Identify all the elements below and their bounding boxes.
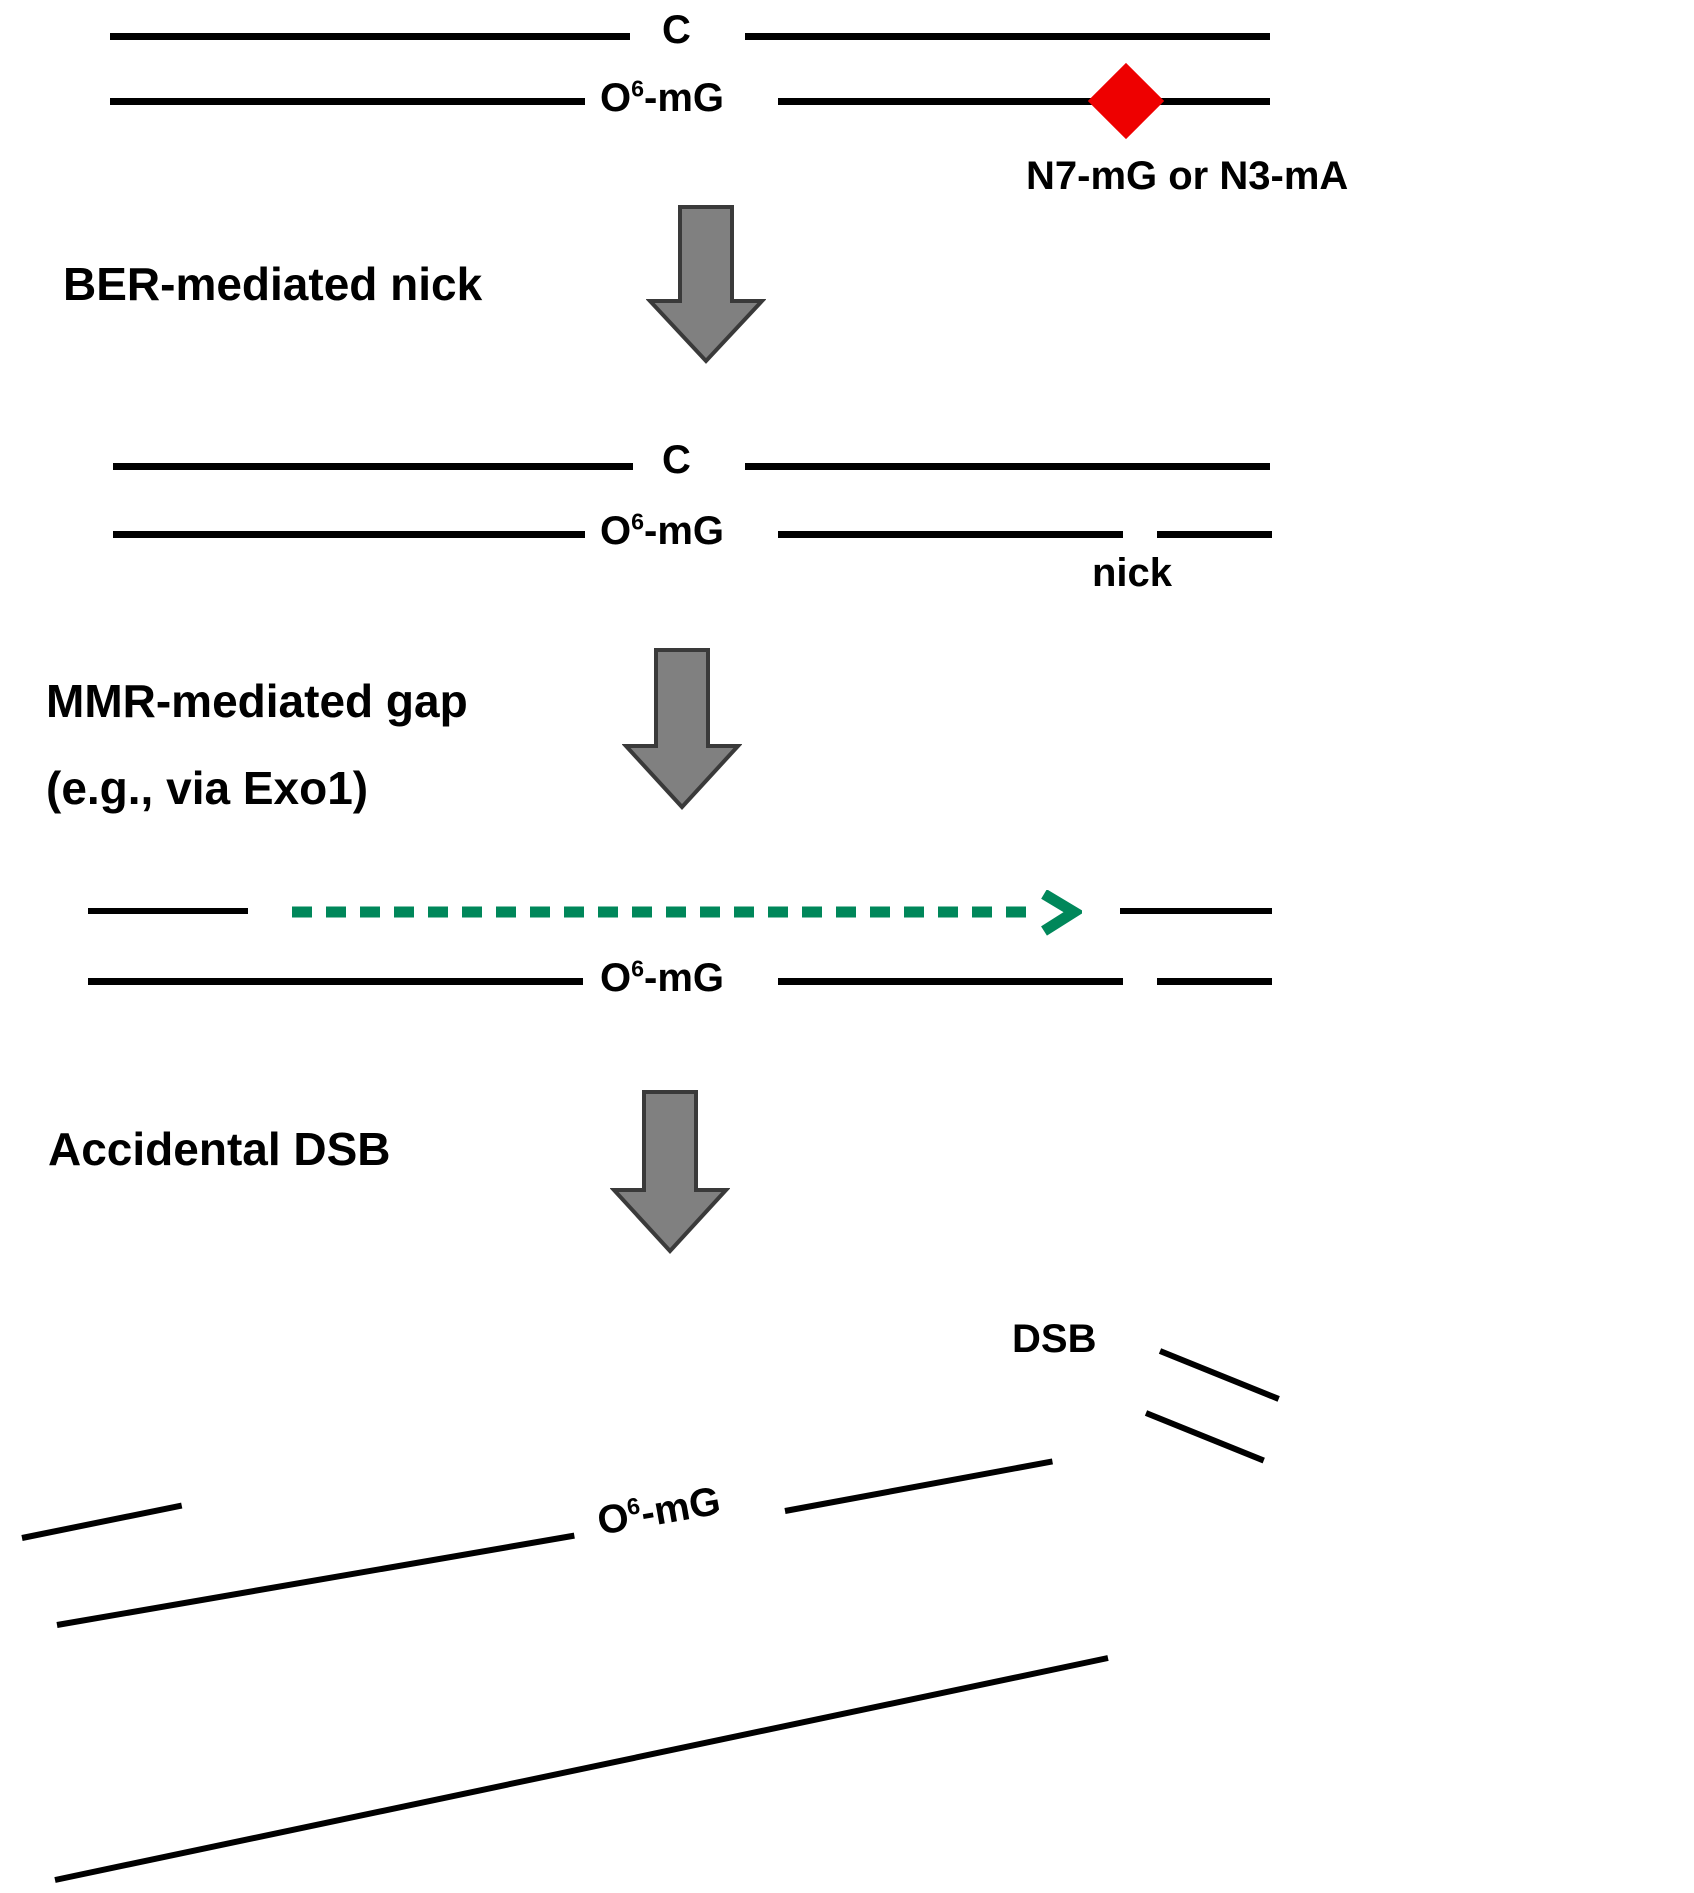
panel2-bottom-strand-far [1157,531,1272,538]
panel1-bottom-strand-left [110,98,585,105]
panel4-fragment-upper [1159,1348,1280,1402]
nick-label: nick [1092,552,1172,594]
base-o-letter: O [600,956,631,1000]
arrow-dsb-icon [610,1090,730,1255]
lesion-diamond-icon [1088,63,1164,139]
panel3-top-strand-right [1120,908,1272,914]
panel2-bottom-strand-left [113,531,585,538]
panel2-base-c: C [662,438,691,483]
base-o-superscript: 6 [631,76,644,102]
panel3-bottom-strand-left [88,978,583,985]
base-o-rest: -mG [644,76,724,120]
dsb-label: DSB [1012,1318,1096,1360]
panel2-top-strand-right [745,463,1270,470]
base-o-superscript: 6 [631,956,644,982]
panel3-bottom-strand-mid [778,978,1123,985]
panel2-base-o6mg: O6-mG [600,509,724,554]
resection-dashed-arrow-icon [292,890,1082,936]
step-label-ber: BER-mediated nick [63,260,482,308]
panel2-bottom-strand-mid [778,531,1123,538]
panel3-bottom-strand-far [1157,978,1272,985]
panel1-base-c: C [662,8,691,53]
panel1-bottom-strand-right [778,98,1270,105]
step-label-accidental-dsb: Accidental DSB [48,1125,391,1173]
panel1-base-o6mg: O6-mG [600,76,724,121]
panel3-top-strand-left [88,908,248,914]
base-o-letter: O [600,509,631,553]
diagram-canvas: C O6-mG N7-mG or N3-mA BER-mediated nick… [0,0,1694,1893]
base-o-rest: -mG [644,956,724,1000]
base-o-rest: -mG [644,509,724,553]
panel4-bottom-strand-svg [0,1440,1694,1893]
base-o-letter: O [600,76,631,120]
step-label-mmr-line1: MMR-mediated gap [46,677,468,725]
arrow-ber-icon [646,205,766,365]
panel1-top-strand-left [110,33,630,40]
panel1-top-strand-right [745,33,1270,40]
panel3-base-o6mg: O6-mG [600,956,724,1001]
lesion-label: N7-mG or N3-mA [1026,155,1348,197]
panel2-top-strand-left [113,463,633,470]
base-o-superscript: 6 [631,509,644,535]
step-label-mmr-line2: (e.g., via Exo1) [46,764,368,812]
arrow-mmr-icon [622,648,742,811]
